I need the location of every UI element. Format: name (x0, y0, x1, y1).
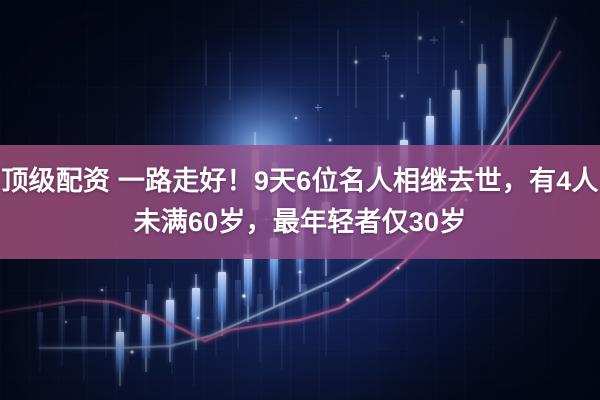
headline: 顶级配资 一路走好！9天6位名人相继去世，有4人 未满60岁，最年轻者仅30岁 (0, 145, 600, 259)
headline-line-2: 未满60岁，最年轻者仅30岁 (126, 205, 475, 240)
news-banner: 顶级配资 一路走好！9天6位名人相继去世，有4人 未满60岁，最年轻者仅30岁 (0, 0, 600, 400)
headline-line-1: 顶级配资 一路走好！9天6位名人相继去世，有4人 (0, 164, 600, 199)
